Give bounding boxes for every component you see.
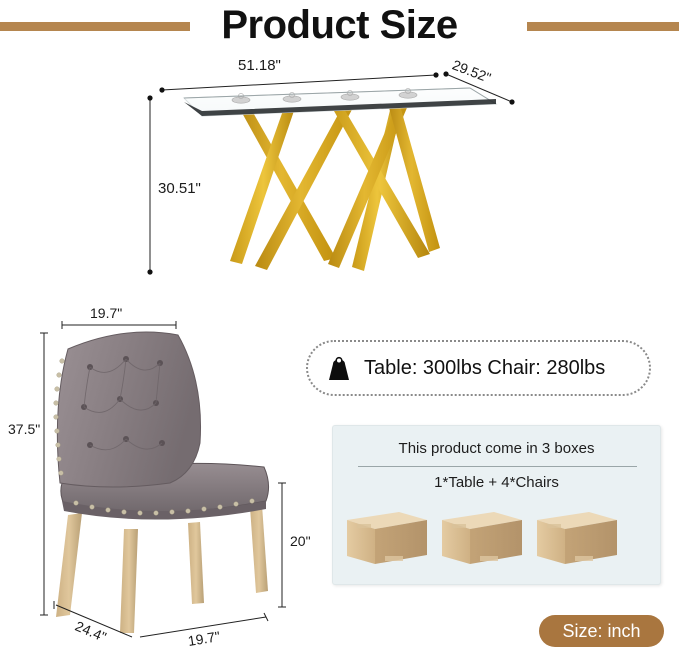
- table-height-label: 30.51": [158, 180, 201, 197]
- table-illustration: 51.18" 29.52" 30.51": [140, 58, 540, 298]
- chair-front-width-label: 19.7": [187, 628, 221, 649]
- table-height-dimension: [147, 95, 152, 274]
- weight-kettlebell-icon: [324, 353, 354, 383]
- weight-capacity-text: Table: 300lbs Chair: 280lbs: [364, 357, 605, 380]
- packaging-panel: This product come in 3 boxes 1*Table + 4…: [332, 425, 661, 585]
- table-width-label: 51.18": [238, 57, 281, 74]
- weight-capacity-badge: Table: 300lbs Chair: 280lbs: [306, 340, 651, 396]
- size-unit-badge: Size: inch: [539, 615, 664, 647]
- chair-legs: [56, 505, 268, 633]
- carton-box: [537, 512, 617, 564]
- chair-back-width-label: 19.7": [90, 305, 122, 321]
- chair-total-height-label: 37.5": [8, 421, 40, 437]
- table-width-dimension: [159, 72, 438, 92]
- product-size-infographic: Product Size: [0, 0, 679, 656]
- page-title: Product Size: [0, 0, 679, 50]
- carton-box: [347, 512, 427, 564]
- table-legs: [230, 102, 440, 271]
- packaging-headline: This product come in 3 boxes: [333, 440, 660, 457]
- chair-seat-height-dimension: [278, 483, 286, 607]
- table-drawing: [140, 58, 540, 298]
- chair-height-dimension: [40, 333, 48, 615]
- chair-backrest: [57, 332, 200, 487]
- chair-seat-height-label: 20": [290, 533, 311, 549]
- packaging-contents: 1*Table + 4*Chairs: [333, 474, 660, 491]
- chair-drawing: [28, 315, 318, 645]
- chair-width-dimension: [62, 321, 176, 329]
- carton-box: [442, 512, 522, 564]
- chair-illustration: 19.7" 37.5" 20" 24.4" 19.7": [28, 315, 318, 645]
- carton-boxes-illustration: [341, 502, 654, 574]
- packaging-divider: [358, 466, 637, 467]
- header: Product Size: [0, 0, 679, 52]
